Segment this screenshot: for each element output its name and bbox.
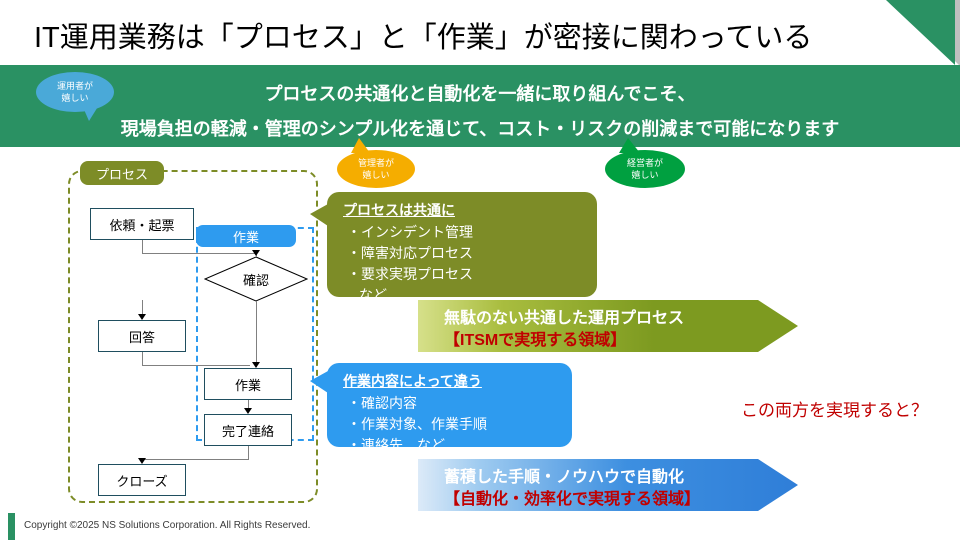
speech-bubble-manager-line2: 嬉しい (362, 169, 389, 181)
chevron-itsm-line-2: 【ITSMで実現する領域】 (444, 330, 798, 352)
arrow-to-work-icon (252, 362, 260, 368)
arrow-to-complete-icon (244, 408, 252, 414)
flow-node-work: 作業 (204, 368, 292, 400)
speech-bubble-manager: 管理者が 嬉しい (337, 150, 415, 188)
chevron-banner-automation: 蓄積した手順・ノウハウで自動化 【自動化・効率化で実現する領域】 (418, 459, 798, 511)
callout-process-common: プロセスは共通に ・インシデント管理 ・障害対応プロセス ・要求実現プロセス な… (327, 192, 597, 297)
callout-task-bullet-3: ・連絡先 など (343, 435, 560, 456)
headline-line-1: プロセスの共通化と自動化を一緒に取り組んでこそ、 (0, 80, 960, 106)
chevron-automation-line-1: 蓄積した手順・ノウハウで自動化 (444, 467, 798, 489)
connector-request-down (142, 240, 143, 254)
headline-banner: プロセスの共通化と自動化を一緒に取り組んでこそ、 現場負担の軽減・管理のシンプル… (0, 65, 960, 147)
arrow-to-confirm-icon (252, 250, 260, 256)
flow-node-answer: 回答 (98, 320, 186, 352)
callout-tail-icon (310, 371, 328, 393)
slide-title: IT運用業務は「プロセス」と「作業」が密接に関わっている (34, 14, 812, 56)
speech-bubble-operator: 運用者が 嬉しい (36, 72, 114, 112)
callout-task-heading: 作業内容によって違う (343, 371, 560, 391)
copyright-text: Copyright ©2025 NS Solutions Corporation… (24, 520, 310, 531)
connector-complete-left (142, 459, 249, 460)
flow-node-close: クローズ (98, 464, 186, 496)
speech-bubble-executive: 経営者が 嬉しい (605, 150, 685, 188)
speech-bubble-executive-line1: 経営者が (627, 157, 663, 169)
work-label: 作業 (196, 225, 296, 247)
chevron-automation-line-2: 【自動化・効率化で実現する領域】 (444, 489, 798, 511)
corner-accent-green (886, 0, 955, 65)
connector-answer-right (142, 365, 250, 366)
flow-node-confirm: 確認 (204, 256, 308, 302)
callout-process-bullet-1: ・インシデント管理 (343, 222, 585, 243)
callout-task-bullet-1: ・確認内容 (343, 393, 560, 414)
headline-line-2: 現場負担の軽減・管理のシンプル化を通じて、コスト・リスクの削減まで可能になります (0, 115, 960, 141)
connector-request-right (142, 253, 257, 254)
arrow-to-close-icon (138, 458, 146, 464)
callout-tail-icon (310, 204, 328, 226)
callout-process-bullet-3: ・要求実現プロセス (343, 264, 585, 285)
speech-bubble-manager-line1: 管理者が (358, 157, 394, 169)
speech-bubble-tail-icon (619, 138, 640, 153)
process-label: プロセス (80, 161, 164, 185)
flow-node-complete: 完了連絡 (204, 414, 292, 446)
callout-process-heading: プロセスは共通に (343, 200, 585, 220)
chevron-itsm-line-1: 無駄のない共通した運用プロセス (444, 308, 798, 330)
connector-answer-down (142, 352, 143, 366)
speech-bubble-executive-line2: 嬉しい (631, 169, 658, 181)
connector-confirm-down (256, 301, 257, 367)
footer-accent-bar (8, 513, 15, 540)
callout-task-varies: 作業内容によって違う ・確認内容 ・作業対象、作業手順 ・連絡先 など (327, 363, 572, 447)
connector-complete-down (248, 446, 249, 460)
flow-node-request: 依頼・起票 (90, 208, 194, 240)
speech-bubble-operator-line2: 嬉しい (61, 92, 88, 104)
arrow-to-answer-icon (138, 314, 146, 320)
chevron-banner-itsm: 無駄のない共通した運用プロセス 【ITSMで実現する領域】 (418, 300, 798, 352)
speech-bubble-operator-line1: 運用者が (57, 80, 93, 92)
speech-bubble-tail-icon (82, 105, 99, 121)
speech-bubble-tail-icon (351, 138, 370, 153)
flow-node-confirm-label: 確認 (204, 256, 308, 302)
callout-task-bullet-2: ・作業対象、作業手順 (343, 414, 560, 435)
question-text: この両方を実現すると？ (741, 396, 928, 421)
callout-process-bullet-2: ・障害対応プロセス (343, 243, 585, 264)
